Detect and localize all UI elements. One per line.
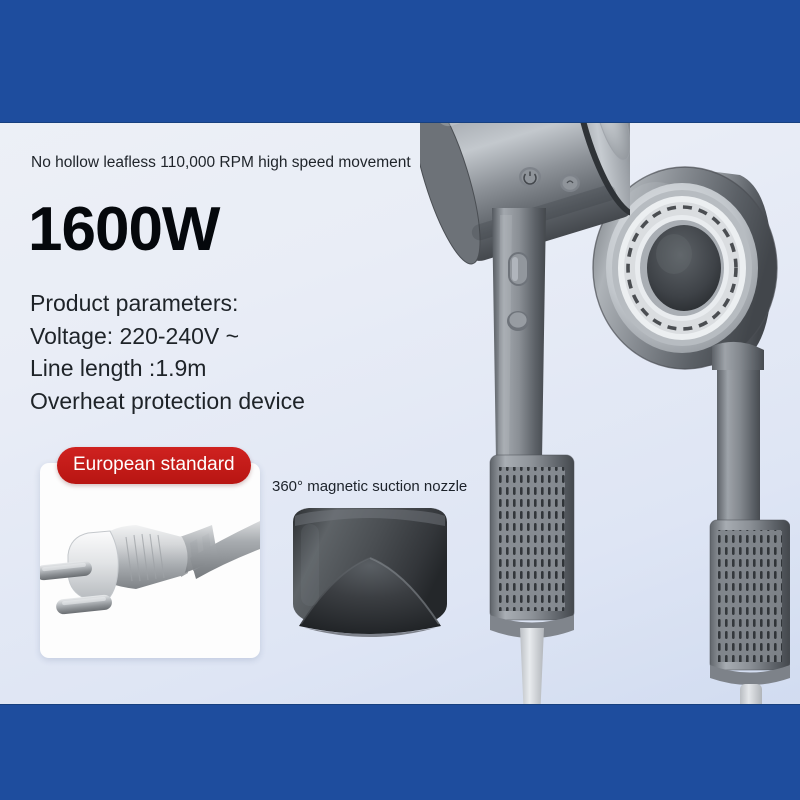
param-line: Line length :1.9m [30,352,305,385]
bottom-banner [0,705,800,800]
param-line: Voltage: 220-240V ~ [30,320,305,353]
param-line: Product parameters: [30,287,305,320]
handle-round-button-icon [507,311,529,331]
eu-power-plug-icon [40,463,260,658]
wattage-text: 1600W [28,197,219,263]
product-parameters-list: Product parameters: Voltage: 220-240V ~ … [30,287,305,417]
power-switch-icon [508,252,529,286]
european-standard-badge: European standard [57,447,251,484]
plug-photo-card [40,463,260,658]
top-banner [0,0,800,122]
tagline-text: No hollow leafless 110,000 RPM high spee… [31,154,411,172]
hair-dryer-side-view [420,30,630,725]
power-button-icon [519,167,541,187]
product-banner-image: Ash silver No hollow leafless 110,000 RP… [0,0,800,800]
param-line: Overheat protection device [30,385,305,418]
mode-button-icon [560,174,580,192]
